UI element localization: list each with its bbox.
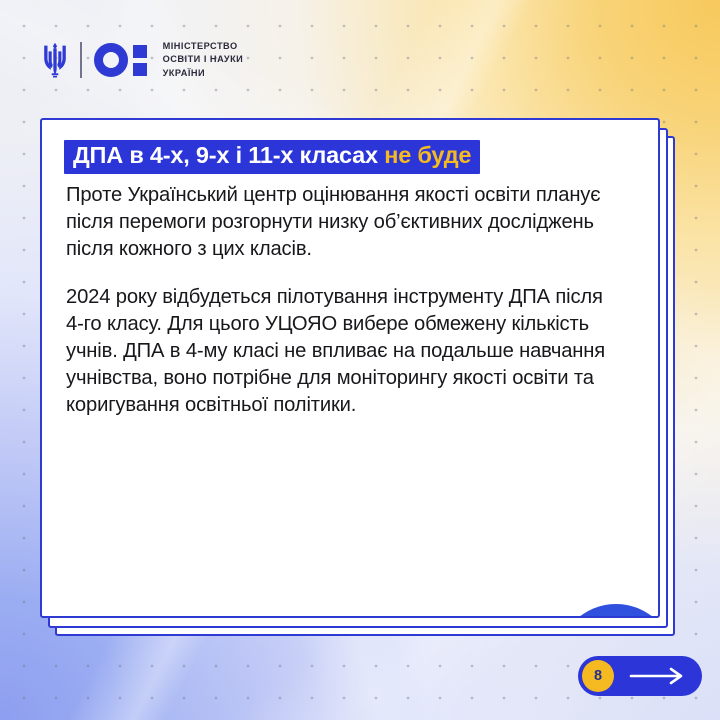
content-card: ДПА в 4-х, 9-х і 11-х класах не буде Про… [40, 118, 660, 618]
mon-ring-icon [94, 43, 128, 77]
next-slide-button[interactable]: 8 [578, 656, 702, 696]
boy-with-book-photo [557, 604, 660, 618]
boy-illustration [557, 604, 660, 618]
slide-title: ДПА в 4-х, 9-х і 11-х класах не буде [64, 140, 480, 174]
body-copy: Проте Український центр оцінювання якост… [66, 182, 612, 419]
infographic-slide: МІНІСТЕРСТВО ОСВІТИ І НАУКИ УКРАЇНИ ДПА … [0, 0, 720, 720]
paragraph-2: 2024 року відбудеться пілотування інстру… [66, 284, 612, 419]
ministry-logo: МІНІСТЕРСТВО ОСВІТИ І НАУКИ УКРАЇНИ [42, 34, 243, 86]
paragraph-1: Проте Український центр оцінювання якост… [66, 182, 612, 263]
mon-squares-icon [133, 45, 147, 76]
ukraine-trident-icon [42, 42, 68, 78]
mon-ring-squares-icon [94, 43, 147, 77]
mon-square-bottom [133, 63, 147, 76]
logo-divider [80, 42, 82, 78]
slide-title-main: ДПА в 4-х, 9-х і 11-х класах [73, 142, 384, 168]
slide-number-badge: 8 [582, 660, 614, 692]
slide-title-accent: не буде [384, 142, 471, 168]
mon-square-top [133, 45, 147, 58]
arrow-right-icon [614, 667, 702, 685]
ministry-name: МІНІСТЕРСТВО ОСВІТИ І НАУКИ УКРАЇНИ [163, 40, 244, 79]
